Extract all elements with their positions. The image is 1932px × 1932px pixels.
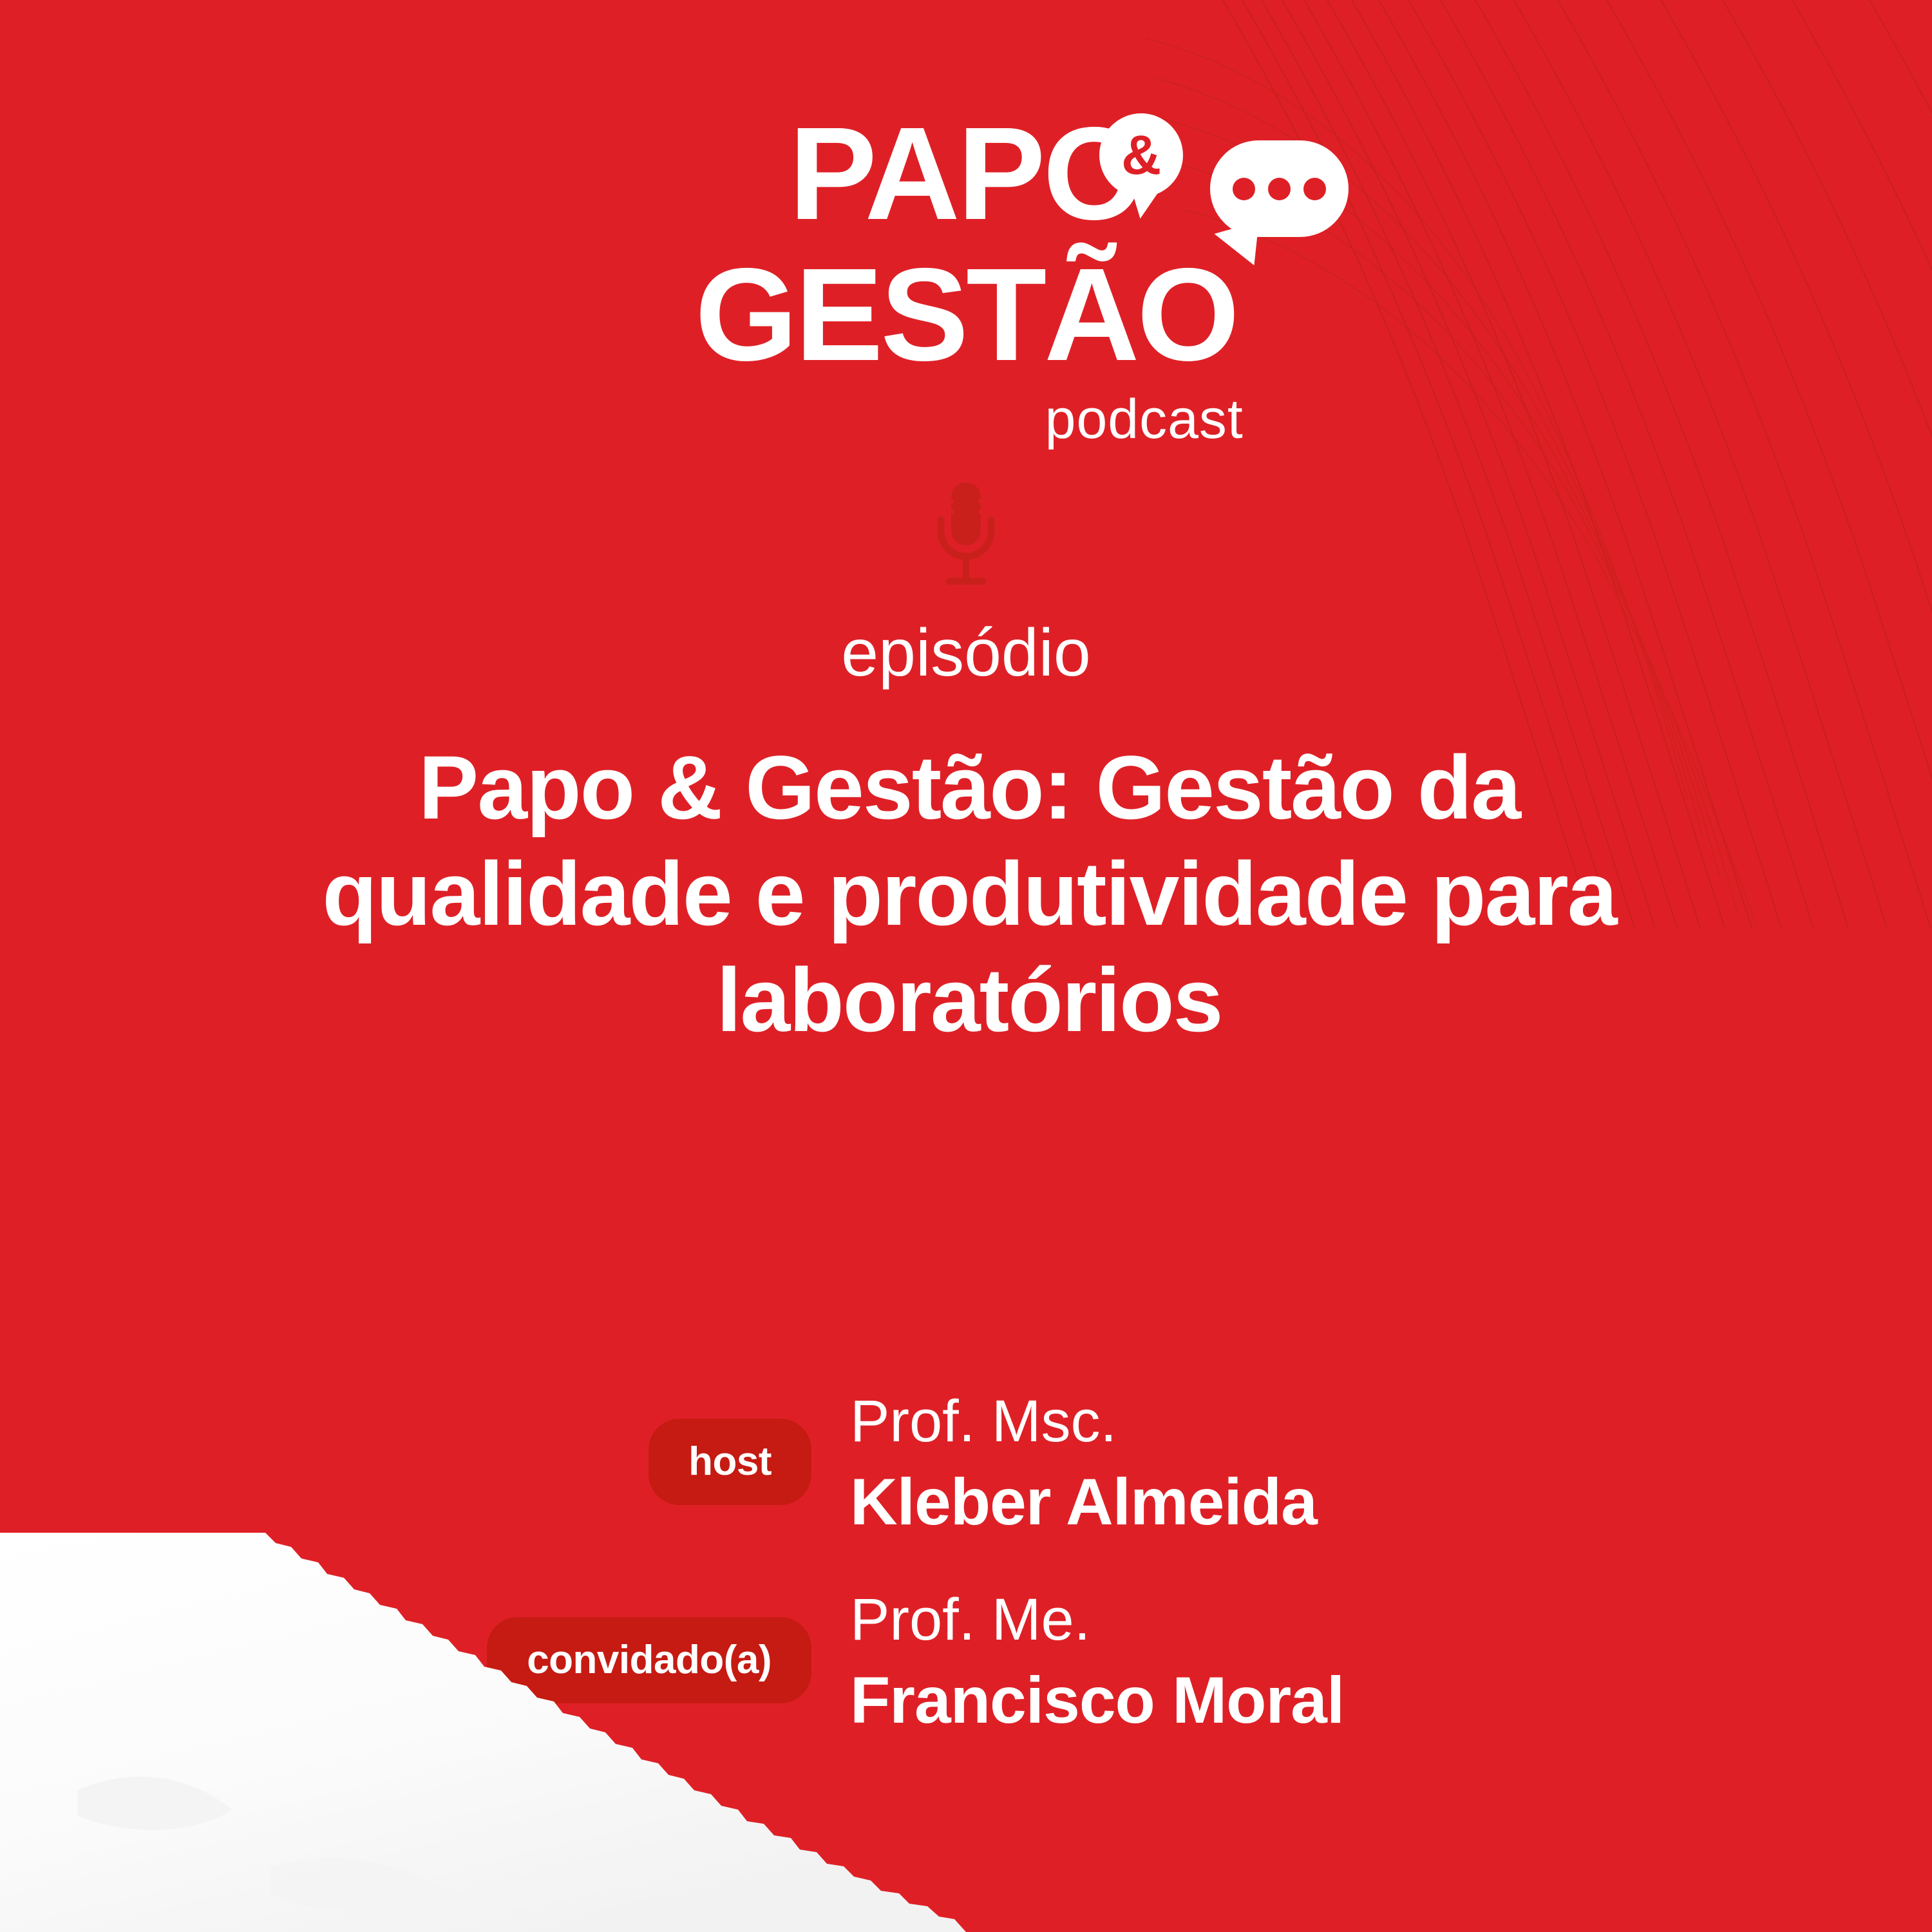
bubble-dot-3 <box>1303 178 1326 200</box>
host-badge-col: host <box>0 1388 850 1505</box>
people-credits: host Prof. Msc. Kleber Almeida convidado… <box>0 1388 1932 1785</box>
logo-tagline: podcast <box>695 392 1244 447</box>
episode-title: Papo & Gestão: Gestão da qualidade e pro… <box>161 734 1777 1054</box>
podcast-logo: PAPO GESTÃO & podcast <box>0 109 1932 447</box>
bubble-dot-2 <box>1268 178 1291 200</box>
episode-title-line-2: qualidade e produtividade para <box>161 840 1777 947</box>
episode-title-line-1: Papo & Gestão: Gestão da <box>161 734 1777 840</box>
logo-word-gestao: GESTÃO <box>695 251 1237 380</box>
host-title: Prof. Msc. <box>850 1388 1932 1456</box>
speech-bubble-icon <box>1210 140 1349 237</box>
guest-badge-col: convidado(a) <box>0 1586 850 1703</box>
guest-name: Francisco Moral <box>850 1661 1932 1739</box>
person-row-guest: convidado(a) Prof. Me. Francisco Moral <box>0 1586 1932 1739</box>
ampersand-bubble-icon: & <box>1099 113 1183 197</box>
podcast-cover: PAPO GESTÃO & podcast episódio <box>0 0 1932 1932</box>
bubble-dot-1 <box>1233 178 1255 200</box>
microphone-icon <box>924 480 1008 592</box>
guest-name-col: Prof. Me. Francisco Moral <box>850 1586 1932 1739</box>
ampersand-glyph: & <box>1121 128 1161 183</box>
host-badge: host <box>649 1419 811 1505</box>
episode-title-line-3: laboratórios <box>161 947 1777 1053</box>
guest-title: Prof. Me. <box>850 1586 1932 1654</box>
logo-wordmark: PAPO GESTÃO & podcast <box>695 109 1237 447</box>
microphone-icon-wrap <box>0 480 1932 596</box>
episode-label: episódio <box>0 615 1932 692</box>
person-row-host: host Prof. Msc. Kleber Almeida <box>0 1388 1932 1541</box>
host-name: Kleber Almeida <box>850 1463 1932 1541</box>
host-name-col: Prof. Msc. Kleber Almeida <box>850 1388 1932 1541</box>
guest-badge: convidado(a) <box>487 1617 811 1703</box>
